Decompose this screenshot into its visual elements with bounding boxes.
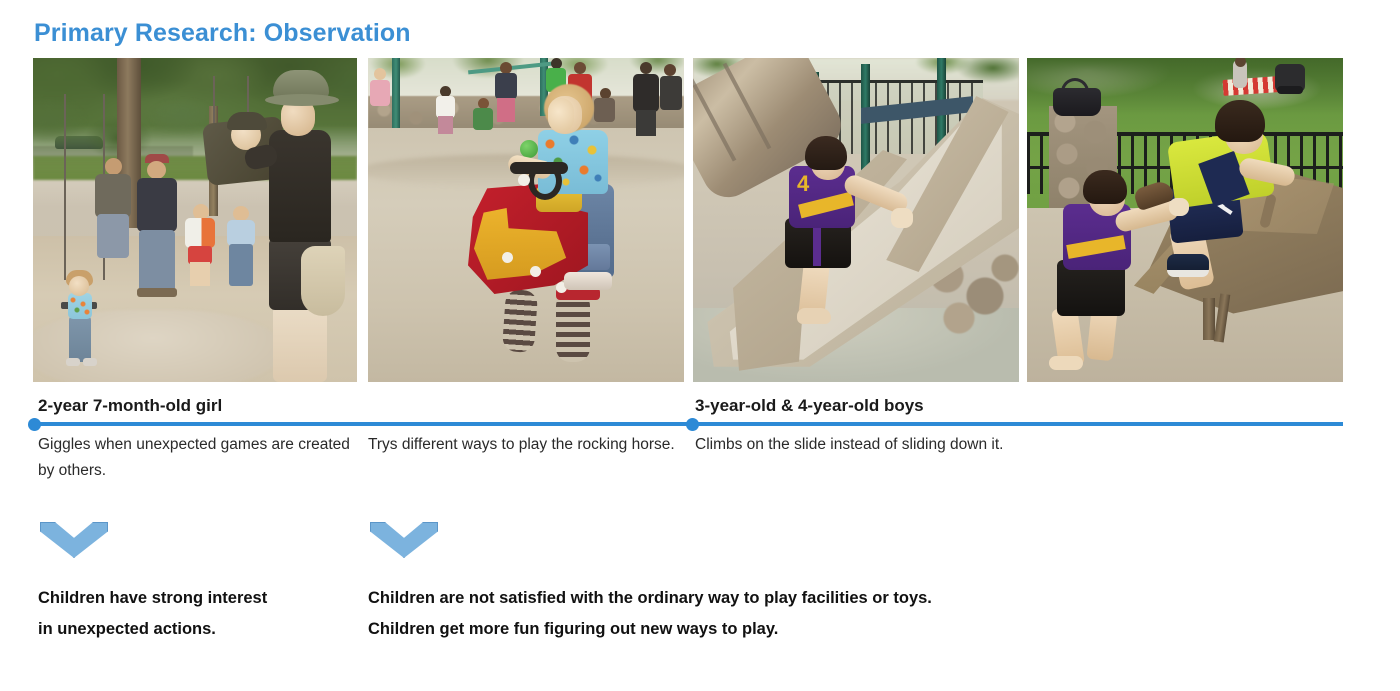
photo-strip: 4 [33, 58, 1343, 382]
insight-left: Children have strong interest in unexpec… [38, 583, 358, 645]
photo-rocking-horse [368, 58, 684, 382]
scene-two-boys-rocker [1027, 58, 1343, 382]
insight-right-line-1: Children are not satisfied with the ordi… [368, 583, 1128, 614]
observation-title-boys: 3-year-old & 4-year-old boys [695, 396, 924, 416]
photo-slide: 4 [693, 58, 1019, 382]
chevron-down-icon [370, 522, 438, 558]
observation-text-boys: Climbs on the slide instead of sliding d… [695, 432, 1335, 458]
photo-swing [33, 58, 357, 382]
observation-text-girl: Giggles when unexpected games are create… [38, 432, 358, 484]
insight-left-line-2: in unexpected actions. [38, 614, 358, 645]
timeline-dot-2 [686, 418, 699, 431]
scene-playground-swings [33, 58, 357, 382]
photo-rocker [1027, 58, 1343, 382]
scene-boy-climbing-slide: 4 [693, 58, 1019, 382]
page-title: Primary Research: Observation [34, 19, 411, 48]
insight-left-line-1: Children have strong interest [38, 583, 358, 614]
insight-right: Children are not satisfied with the ordi… [368, 583, 1128, 645]
observation-title-girl: 2-year 7-month-old girl [38, 396, 222, 416]
slide-canvas: Primary Research: Observation [0, 0, 1400, 691]
insight-right-line-2: Children get more fun figuring out new w… [368, 614, 1128, 645]
observation-text-rocking-horse: Trys different ways to play the rocking … [368, 432, 688, 458]
scene-spring-rider [368, 58, 684, 382]
chevron-down-icon [40, 522, 108, 558]
timeline-dot-1 [28, 418, 41, 431]
